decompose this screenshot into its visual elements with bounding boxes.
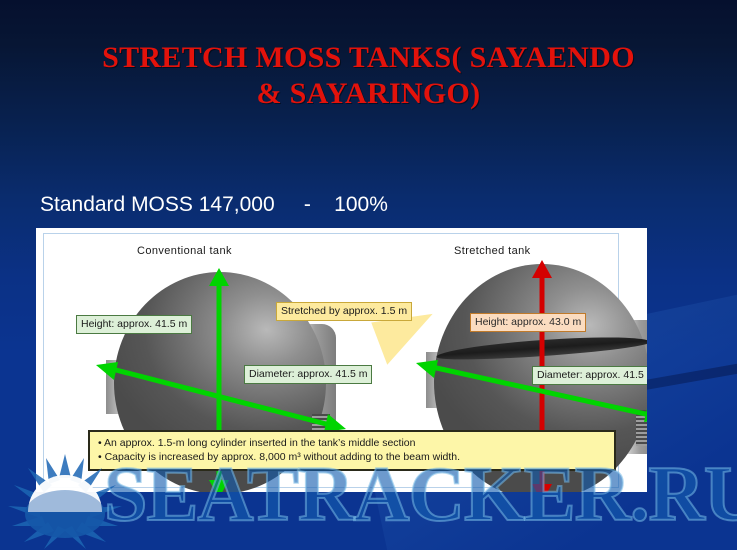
stretch-callout-label: Stretched by approx. 1.5 m: [276, 302, 412, 321]
conventional-tank-title: Conventional tank: [137, 245, 232, 257]
image-inner-frame: Conventional tank Stretched tank: [43, 233, 619, 488]
slide-title-line-1: STRETCH MOSS TANKS( SAYAENDO: [102, 41, 635, 74]
slide-title-line-2: & SAYARINGO): [257, 77, 481, 110]
conventional-height-label: Height: approx. 41.5 m: [76, 315, 192, 334]
slide-title: STRETCH MOSS TANKS( SAYAENDO & SAYARINGO…: [40, 40, 697, 112]
stretch-callout-tail: [371, 314, 439, 366]
stretched-tank-title: Stretched tank: [454, 245, 531, 257]
body-line-standard: Standard MOSS 147,000 - 100%: [40, 191, 660, 218]
stretched-diameter-arrow-icon: [416, 352, 647, 432]
notes-box: An approx. 1.5-m long cylinder inserted …: [88, 430, 616, 471]
stretched-diameter-label: Diameter: approx. 41.5 m: [532, 366, 647, 385]
slide-canvas: STRETCH MOSS TANKS( SAYAENDO & SAYARINGO…: [0, 0, 737, 550]
note-item: Capacity is increased by approx. 8,000 m…: [98, 450, 608, 464]
stretched-height-label: Height: approx. 43.0 m: [470, 313, 586, 332]
note-item: An approx. 1.5-m long cylinder inserted …: [98, 436, 608, 450]
tank-comparison-image: Conventional tank Stretched tank: [36, 228, 647, 492]
conventional-diameter-label: Diameter: approx. 41.5 m: [244, 365, 372, 384]
